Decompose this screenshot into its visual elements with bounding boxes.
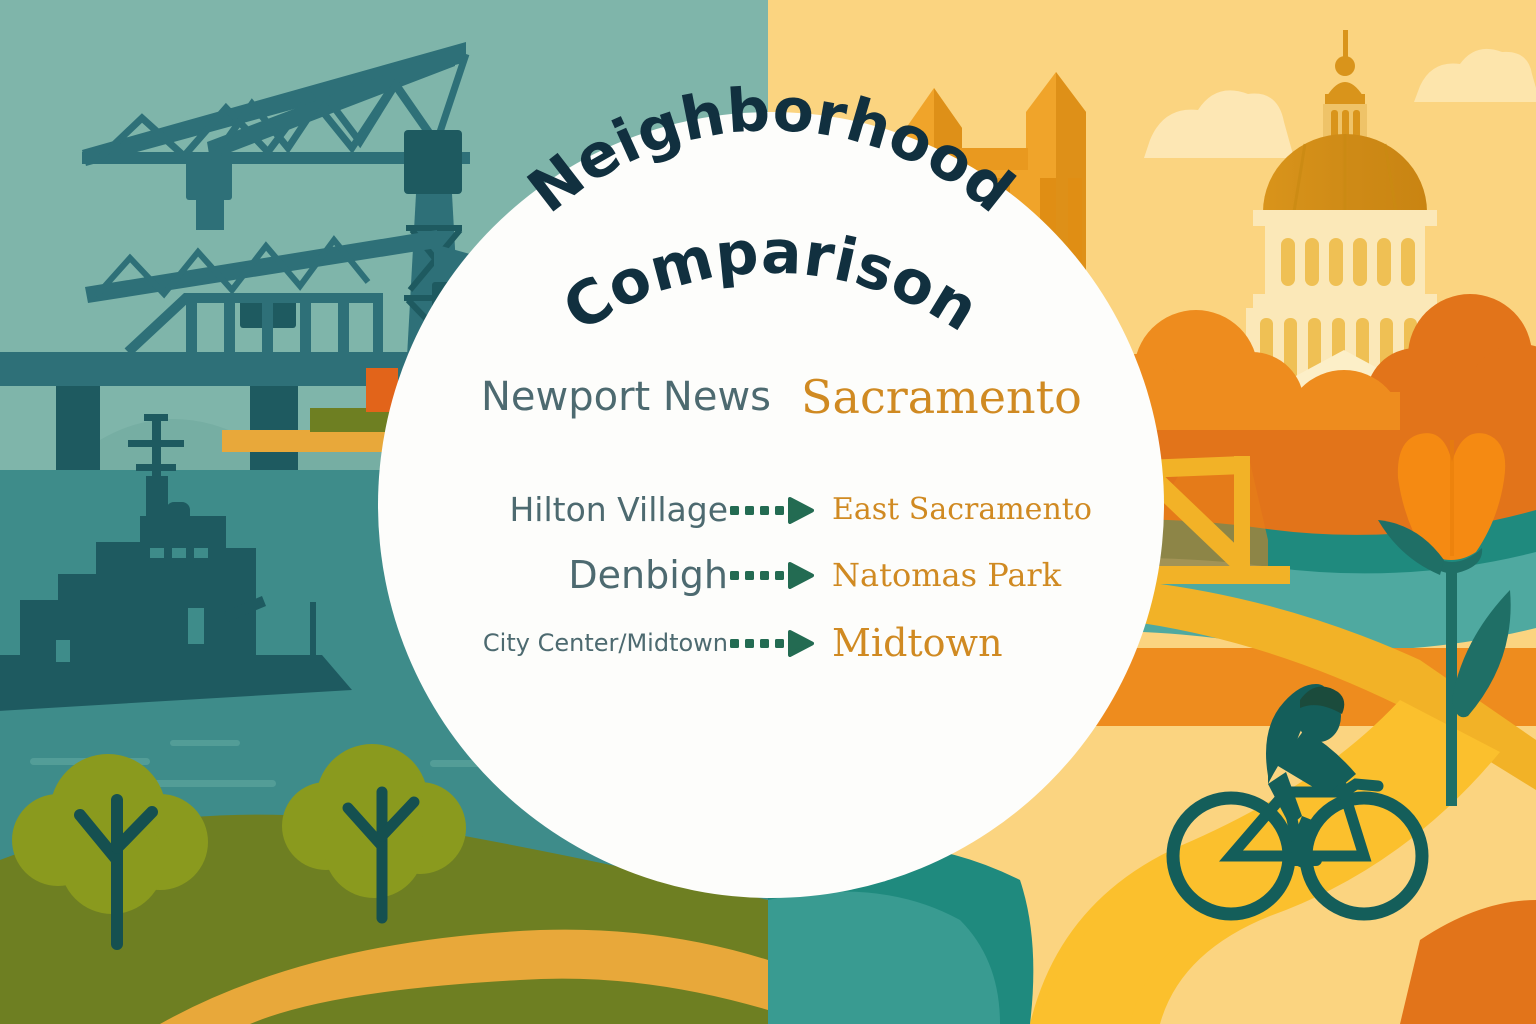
- city-header-row: Newport News Sacramento: [378, 370, 1164, 424]
- dashed-arrow-right-icon: [728, 629, 814, 657]
- city-right-label: Sacramento: [771, 370, 1111, 424]
- neighborhood-left-label: Hilton Village: [402, 490, 728, 529]
- city-left-label: Newport News: [431, 374, 771, 420]
- comparison-row[interactable]: Hilton Village East Sacramento: [378, 490, 1164, 529]
- dashed-arrow-right-icon: [728, 561, 814, 589]
- neighborhood-right-label: Midtown: [814, 621, 1140, 665]
- comparison-row[interactable]: City Center/Midtown Midtown: [378, 621, 1164, 665]
- neighborhood-left-label: City Center/Midtown: [402, 629, 728, 657]
- comparison-row[interactable]: Denbigh Natomas Park: [378, 553, 1164, 597]
- neighborhood-right-label: East Sacramento: [814, 492, 1140, 527]
- neighborhood-right-label: Natomas Park: [814, 556, 1140, 594]
- dashed-arrow-right-icon: [728, 496, 814, 524]
- neighborhood-left-label: Denbigh: [402, 553, 728, 597]
- infographic-canvas: Neighborhood Comparison Newport News Sac…: [0, 0, 1536, 1024]
- comparison-list: Newport News Sacramento Hilton Village E…: [378, 112, 1164, 898]
